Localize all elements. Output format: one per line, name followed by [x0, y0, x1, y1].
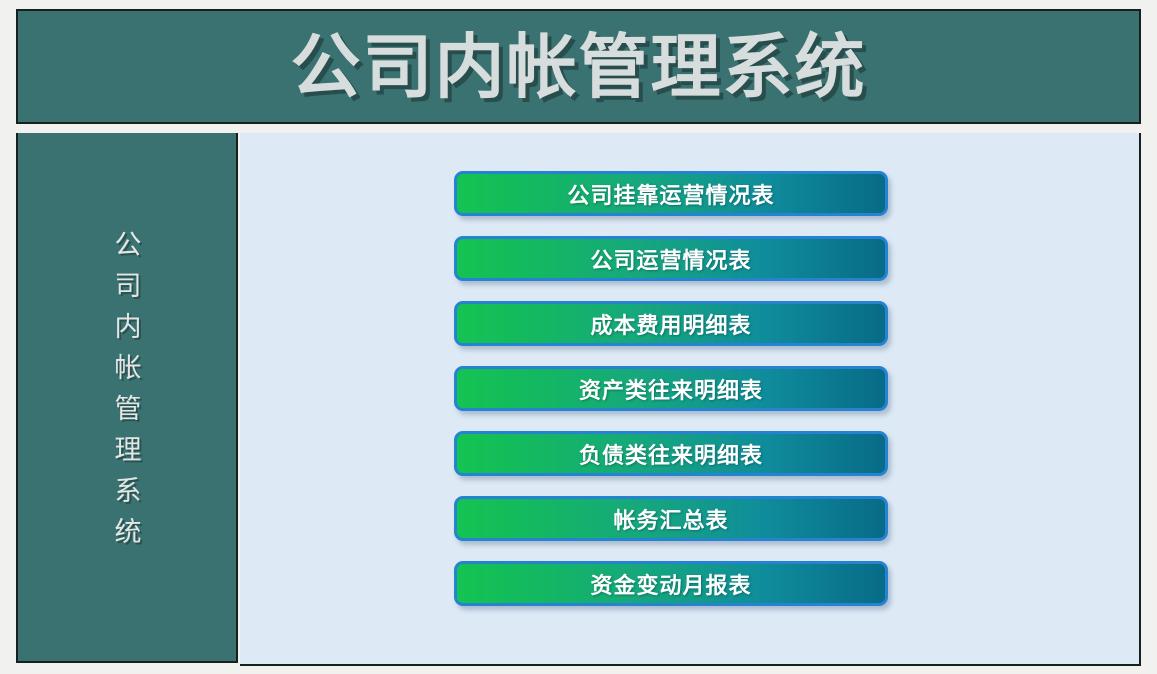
menu-button-list: 公司挂靠运营情况表 公司运营情况表 成本费用明细表 资产类往来明细表 负债类往来…: [240, 133, 1139, 606]
menu-button-cost-expense-detail[interactable]: 成本费用明细表: [454, 301, 888, 346]
menu-button-affiliated-operations[interactable]: 公司挂靠运营情况表: [454, 171, 888, 216]
menu-button-asset-transactions-detail[interactable]: 资产类往来明细表: [454, 366, 888, 411]
menu-button-label: 帐务汇总表: [613, 503, 728, 535]
menu-button-company-operations[interactable]: 公司运营情况表: [454, 236, 888, 281]
menu-button-liability-transactions-detail[interactable]: 负债类往来明细表: [454, 431, 888, 476]
sidebar: 公司内帐管理系统: [16, 133, 238, 663]
menu-button-accounting-summary[interactable]: 帐务汇总表: [454, 496, 888, 541]
header-bar: 公司内帐管理系统: [16, 9, 1141, 124]
menu-button-label: 成本费用明细表: [590, 308, 751, 340]
menu-button-label: 公司挂靠运营情况表: [567, 178, 774, 210]
menu-button-label: 资产类往来明细表: [579, 373, 763, 405]
content-panel: 公司挂靠运营情况表 公司运营情况表 成本费用明细表 资产类往来明细表 负债类往来…: [240, 133, 1141, 666]
sidebar-vertical-title: 公司内帐管理系统: [112, 230, 139, 558]
menu-button-fund-change-monthly-report[interactable]: 资金变动月报表: [454, 561, 888, 606]
menu-button-label: 资金变动月报表: [590, 568, 751, 600]
menu-button-label: 负债类往来明细表: [579, 438, 763, 470]
menu-button-label: 公司运营情况表: [590, 243, 751, 275]
page-title: 公司内帐管理系统: [291, 32, 867, 102]
app-window: 公司内帐管理系统 公司内帐管理系统 公司挂靠运营情况表 公司运营情况表 成本费用…: [0, 0, 1157, 674]
